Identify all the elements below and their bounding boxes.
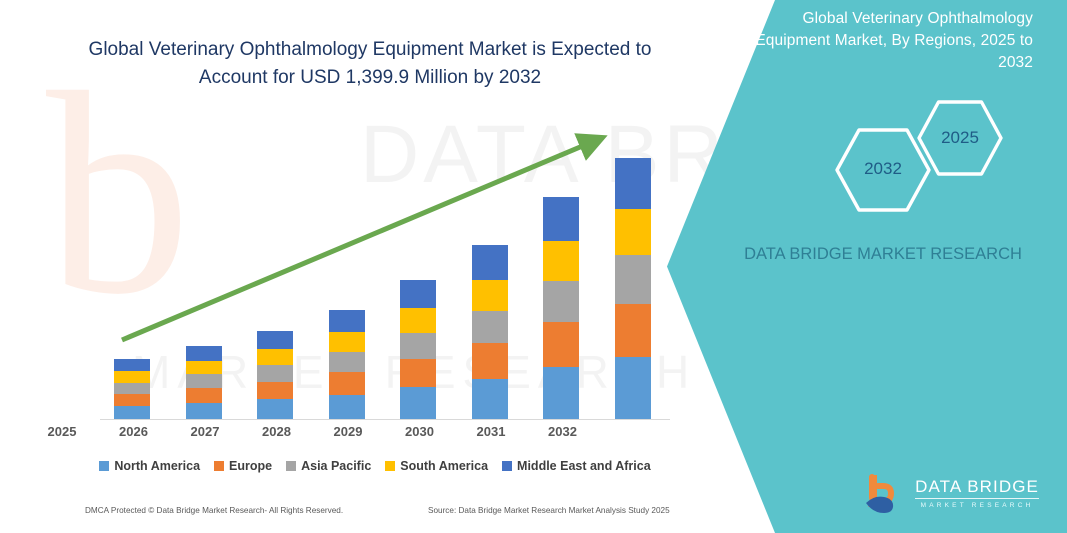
bar-segment[interactable] — [543, 197, 579, 241]
x-axis-label-2027: 2027 — [175, 424, 235, 439]
bar-segment[interactable] — [400, 308, 436, 333]
bar-segment[interactable] — [114, 359, 150, 371]
panel-title: Global Veterinary Ophthalmology Equipmen… — [733, 8, 1033, 74]
bar-segment[interactable] — [114, 394, 150, 406]
footer-source: Source: Data Bridge Market Research Mark… — [428, 506, 670, 515]
x-axis-labels: 20252026202720282029203020312032 — [0, 424, 610, 444]
bar-segment[interactable] — [543, 367, 579, 419]
bar-segment[interactable] — [114, 371, 150, 382]
legend-swatch-icon — [502, 461, 512, 471]
x-axis-label-2030: 2030 — [390, 424, 450, 439]
logo-subtitle: MARKET RESEARCH — [915, 499, 1039, 510]
logo-title: DATA BRIDGE — [915, 478, 1039, 499]
hexagon-2032-label: 2032 — [835, 159, 931, 179]
legend-item[interactable]: North America — [99, 459, 200, 473]
bar-segment[interactable] — [114, 383, 150, 394]
legend-swatch-icon — [286, 461, 296, 471]
x-axis-label-2032: 2032 — [533, 424, 593, 439]
bar-segment[interactable] — [329, 310, 365, 332]
bar-segment[interactable] — [257, 365, 293, 382]
bar-segment[interactable] — [257, 349, 293, 365]
logo-b-icon — [860, 471, 906, 517]
bar-segment[interactable] — [472, 343, 508, 379]
x-axis-line — [100, 419, 670, 420]
bar-segment[interactable] — [472, 245, 508, 280]
bar-group-2026[interactable] — [186, 346, 222, 419]
legend-item[interactable]: Asia Pacific — [286, 459, 371, 473]
legend-item[interactable]: Europe — [214, 459, 272, 473]
x-axis-label-2028: 2028 — [247, 424, 307, 439]
bar-segment[interactable] — [543, 241, 579, 280]
bar-group-2025[interactable] — [114, 359, 150, 419]
bar-segment[interactable] — [186, 346, 222, 361]
bar-series-container — [70, 119, 680, 419]
legend-swatch-icon — [99, 461, 109, 471]
legend-item[interactable]: South America — [385, 459, 488, 473]
legend-label: Europe — [229, 459, 272, 473]
bar-segment[interactable] — [400, 359, 436, 387]
panel-brand-text: DATA BRIDGE MARKET RESEARCH — [733, 242, 1033, 267]
bar-segment[interactable] — [257, 399, 293, 419]
legend-label: Asia Pacific — [301, 459, 371, 473]
page-title: Global Veterinary Ophthalmology Equipmen… — [70, 36, 670, 91]
data-bridge-logo: DATA BRIDGE MARKET RESEARCH — [860, 471, 1039, 517]
bar-group-2029[interactable] — [400, 280, 436, 419]
bar-segment[interactable] — [400, 333, 436, 359]
bar-segment[interactable] — [472, 311, 508, 344]
legend-label: Middle East and Africa — [517, 459, 651, 473]
hexagon-2032: 2032 — [835, 128, 931, 212]
bar-segment[interactable] — [472, 379, 508, 419]
bar-segment[interactable] — [257, 331, 293, 349]
bar-group-2032[interactable] — [615, 158, 651, 419]
bar-segment[interactable] — [615, 304, 651, 357]
x-axis-label-2029: 2029 — [318, 424, 378, 439]
legend-label: South America — [400, 459, 488, 473]
bar-segment[interactable] — [114, 406, 150, 419]
bar-segment[interactable] — [615, 255, 651, 304]
x-axis-label-2025: 2025 — [32, 424, 92, 439]
bar-segment[interactable] — [329, 352, 365, 373]
legend-label: North America — [114, 459, 200, 473]
bar-group-2031[interactable] — [543, 197, 579, 419]
legend-swatch-icon — [214, 461, 224, 471]
chart-legend: North AmericaEuropeAsia PacificSouth Ame… — [70, 455, 680, 477]
bar-segment[interactable] — [472, 280, 508, 311]
x-axis-label-2031: 2031 — [461, 424, 521, 439]
bar-segment[interactable] — [329, 395, 365, 419]
bar-segment[interactable] — [257, 382, 293, 400]
hexagon-group: 2025 2032 — [835, 100, 1035, 210]
logo-wordmark: DATA BRIDGE MARKET RESEARCH — [915, 478, 1039, 510]
bar-group-2027[interactable] — [257, 331, 293, 419]
bar-segment[interactable] — [186, 388, 222, 403]
x-axis-label-2026: 2026 — [104, 424, 164, 439]
bar-segment[interactable] — [400, 387, 436, 419]
bar-group-2030[interactable] — [472, 245, 508, 419]
infographic-root: b DATA BRIDGE MARKET RESEARCH Global Vet… — [0, 0, 1067, 533]
bar-segment[interactable] — [615, 158, 651, 208]
bar-segment[interactable] — [186, 374, 222, 388]
bar-segment[interactable] — [186, 403, 222, 419]
bar-segment[interactable] — [543, 322, 579, 367]
bar-segment[interactable] — [615, 209, 651, 256]
footer-copyright: DMCA Protected © Data Bridge Market Rese… — [85, 506, 343, 515]
bar-group-2028[interactable] — [329, 310, 365, 419]
bar-segment[interactable] — [329, 332, 365, 352]
bar-segment[interactable] — [186, 361, 222, 374]
legend-item[interactable]: Middle East and Africa — [502, 459, 651, 473]
bar-segment[interactable] — [543, 281, 579, 322]
stacked-bar-chart — [70, 110, 680, 420]
bar-segment[interactable] — [400, 280, 436, 308]
legend-swatch-icon — [385, 461, 395, 471]
bar-segment[interactable] — [329, 372, 365, 394]
bar-segment[interactable] — [615, 357, 651, 419]
